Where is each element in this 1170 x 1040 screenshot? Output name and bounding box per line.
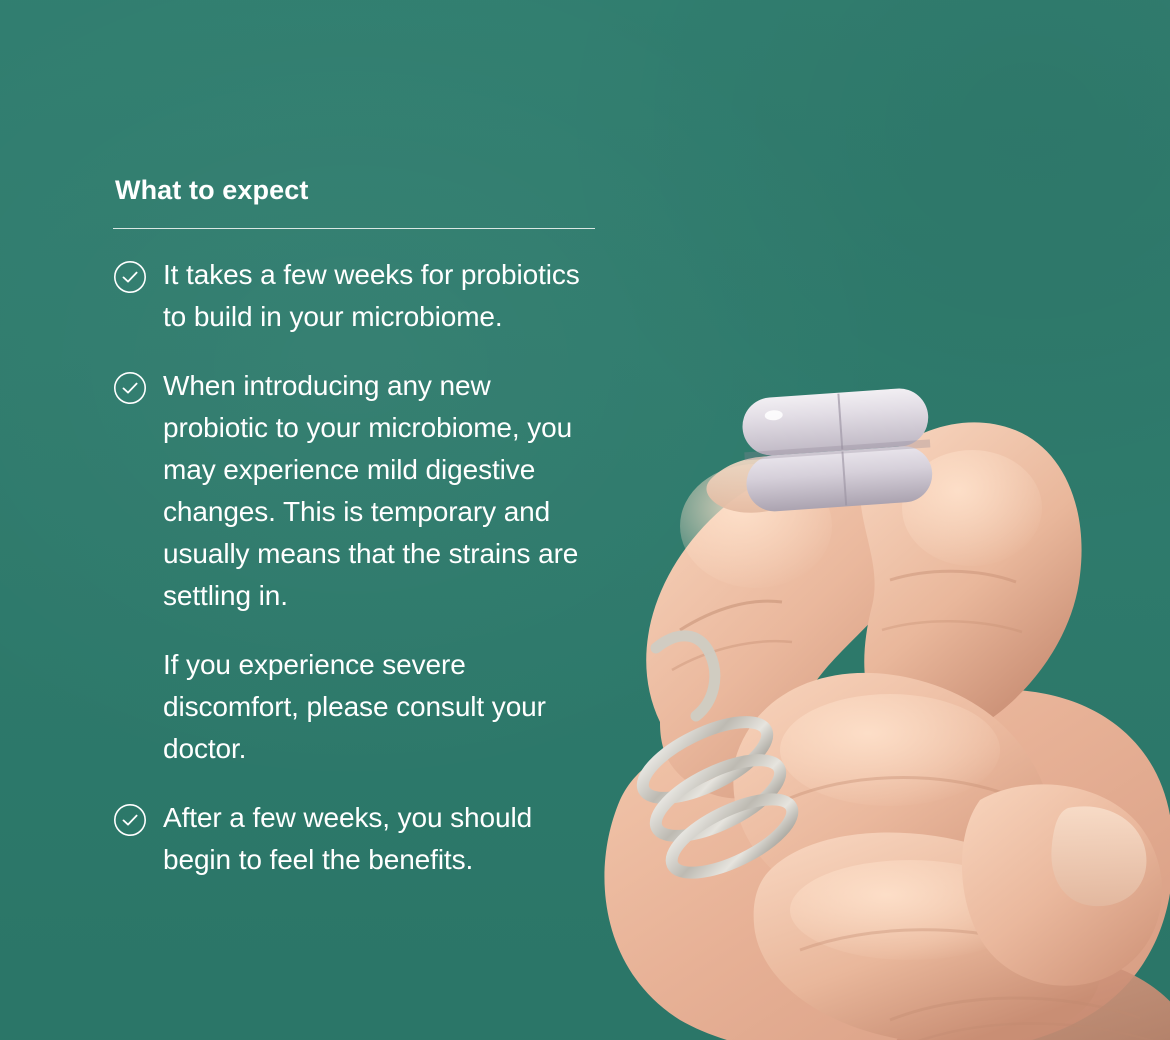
list-item-label: After a few weeks, you should begin to f…: [163, 797, 593, 881]
hand-holding-capsule-photo: [560, 330, 1170, 1040]
list-item: If you experience severe discomfort, ple…: [113, 644, 613, 770]
list-item: When introducing any new probiotic to yo…: [113, 365, 613, 617]
check-circle-icon: [113, 803, 147, 837]
page-title: What to expect: [115, 174, 613, 206]
text-column: What to expect It takes a few weeks for …: [113, 174, 613, 881]
list-item-label: It takes a few weeks for probiotics to b…: [163, 254, 593, 338]
capsule: [741, 387, 934, 514]
list-item: It takes a few weeks for probiotics to b…: [113, 254, 613, 338]
list-item: After a few weeks, you should begin to f…: [113, 797, 613, 881]
check-circle-icon: [113, 371, 147, 405]
title-divider: [113, 228, 595, 229]
what-to-expect-panel: What to expect It takes a few weeks for …: [0, 0, 1170, 1040]
check-circle-icon: [113, 260, 147, 294]
list-item-label: When introducing any new probiotic to yo…: [163, 365, 593, 617]
list-item-label: If you experience severe discomfort, ple…: [163, 644, 593, 770]
